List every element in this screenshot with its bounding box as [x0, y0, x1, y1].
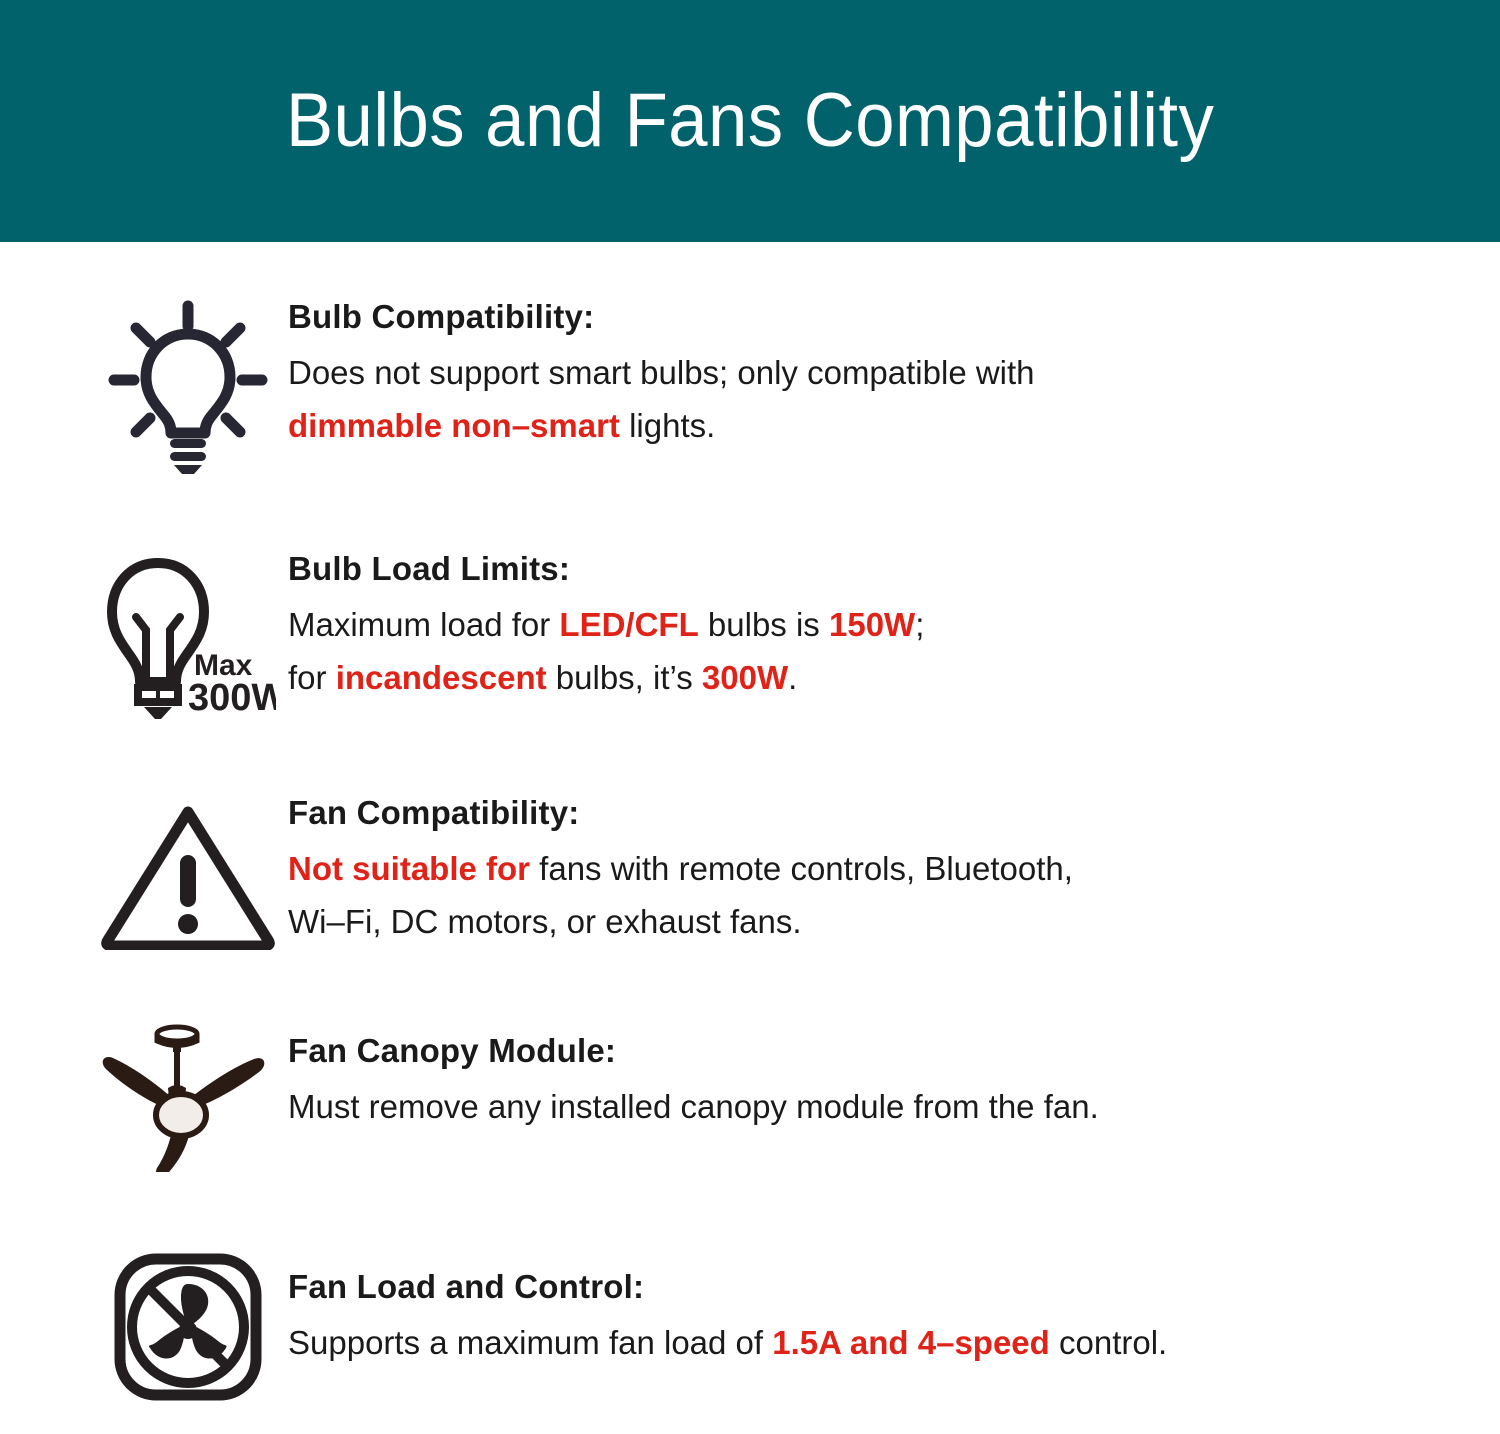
item-body-line: dimmable non–smart lights. — [288, 400, 1500, 453]
compatibility-list: Bulb Compatibility: Does not support sma… — [0, 290, 1500, 1402]
no-fan-icon — [113, 1252, 263, 1402]
text-segment: control. — [1050, 1324, 1167, 1361]
text-segment: Wi–Fi, DC motors, or exhaust fans. — [288, 903, 801, 940]
text-segment-highlight: 150W — [829, 606, 915, 643]
list-item: Fan Compatibility: Not suitable for fans… — [0, 782, 1500, 950]
item-title: Fan Load and Control: — [288, 1266, 1500, 1307]
ceiling-fan-icon — [93, 1022, 283, 1172]
item-icon-cell: Max 300W — [88, 542, 288, 720]
bulb-base — [170, 439, 206, 474]
item-icon-cell — [88, 290, 288, 476]
text-segment: Supports a maximum fan load of — [288, 1324, 772, 1361]
text-segment-highlight: Not suitable for — [288, 850, 530, 887]
bulb-filament — [136, 617, 180, 680]
icon-label-wattage: 300W — [188, 677, 276, 719]
item-body: Maximum load for LED/CFL bulbs is 150W; … — [288, 599, 1500, 705]
list-item: Fan Canopy Module: Must remove any insta… — [0, 1016, 1500, 1172]
fan-hub — [156, 1094, 206, 1136]
text-segment: bulbs is — [699, 606, 829, 643]
text-segment-highlight: incandescent — [336, 659, 547, 696]
ceiling-mount — [157, 1027, 197, 1052]
item-title: Bulb Compatibility: — [288, 296, 1500, 337]
item-body: Supports a maximum fan load of 1.5A and … — [288, 1317, 1500, 1370]
warning-triangle-icon — [100, 800, 276, 950]
text-segment: Does not support smart bulbs; only compa… — [288, 354, 1035, 391]
text-segment-highlight: dimmable non–smart — [288, 407, 620, 444]
bulb-glass — [112, 563, 204, 682]
list-item: Bulb Compatibility: Does not support sma… — [0, 290, 1500, 476]
text-segment-highlight: LED/CFL — [559, 606, 698, 643]
text-segment: Maximum load for — [288, 606, 559, 643]
item-body: Does not support smart bulbs; only compa… — [288, 347, 1500, 453]
item-body-line: Does not support smart bulbs; only compa… — [288, 347, 1500, 400]
text-segment: . — [788, 659, 797, 696]
page-header: Bulbs and Fans Compatibility — [0, 0, 1500, 242]
page-title: Bulbs and Fans Compatibility — [286, 83, 1214, 159]
item-body-line: for incandescent bulbs, it’s 300W. — [288, 652, 1500, 705]
text-segment: Must remove any installed canopy module … — [288, 1088, 1099, 1125]
item-body-line: Not suitable for fans with remote contro… — [288, 843, 1500, 896]
item-title: Fan Canopy Module: — [288, 1030, 1500, 1071]
item-body-line: Maximum load for LED/CFL bulbs is 150W; — [288, 599, 1500, 652]
item-text-cell: Fan Compatibility: Not suitable for fans… — [288, 782, 1500, 949]
text-segment: for — [288, 659, 336, 696]
bulb-max-load-icon: Max 300W — [100, 550, 276, 720]
list-item: Fan Load and Control: Supports a maximum… — [0, 1246, 1500, 1402]
item-title: Bulb Load Limits: — [288, 548, 1500, 589]
item-body-line: Supports a maximum fan load of 1.5A and … — [288, 1317, 1500, 1370]
item-body-line: Wi–Fi, DC motors, or exhaust fans. — [288, 896, 1500, 949]
item-text-cell: Fan Canopy Module: Must remove any insta… — [288, 1016, 1500, 1134]
text-segment-highlight: 1.5A and 4–speed — [772, 1324, 1050, 1361]
bulb-glass — [146, 334, 230, 433]
item-body-line: Must remove any installed canopy module … — [288, 1081, 1500, 1134]
text-segment: ; — [915, 606, 924, 643]
item-body: Must remove any installed canopy module … — [288, 1081, 1500, 1134]
light-bulb-rays-icon — [108, 300, 268, 476]
text-segment: fans with remote controls, Bluetooth, — [530, 850, 1073, 887]
text-segment: bulbs, it’s — [547, 659, 702, 696]
item-icon-cell — [88, 1016, 288, 1172]
bulb-base — [134, 684, 182, 719]
downrod — [174, 1050, 180, 1090]
item-body: Not suitable for fans with remote contro… — [288, 843, 1500, 949]
list-item: Max 300W Bulb Load Limits: Maximum load … — [0, 542, 1500, 720]
exclamation-bar — [180, 855, 196, 907]
item-title: Fan Compatibility: — [288, 792, 1500, 833]
text-segment-highlight: 300W — [702, 659, 788, 696]
exclamation-dot — [178, 914, 198, 934]
item-text-cell: Fan Load and Control: Supports a maximum… — [288, 1246, 1500, 1370]
text-segment: lights. — [620, 407, 715, 444]
item-text-cell: Bulb Load Limits: Maximum load for LED/C… — [288, 542, 1500, 705]
item-icon-cell — [88, 1246, 288, 1402]
item-icon-cell — [88, 782, 288, 950]
item-text-cell: Bulb Compatibility: Does not support sma… — [288, 290, 1500, 453]
